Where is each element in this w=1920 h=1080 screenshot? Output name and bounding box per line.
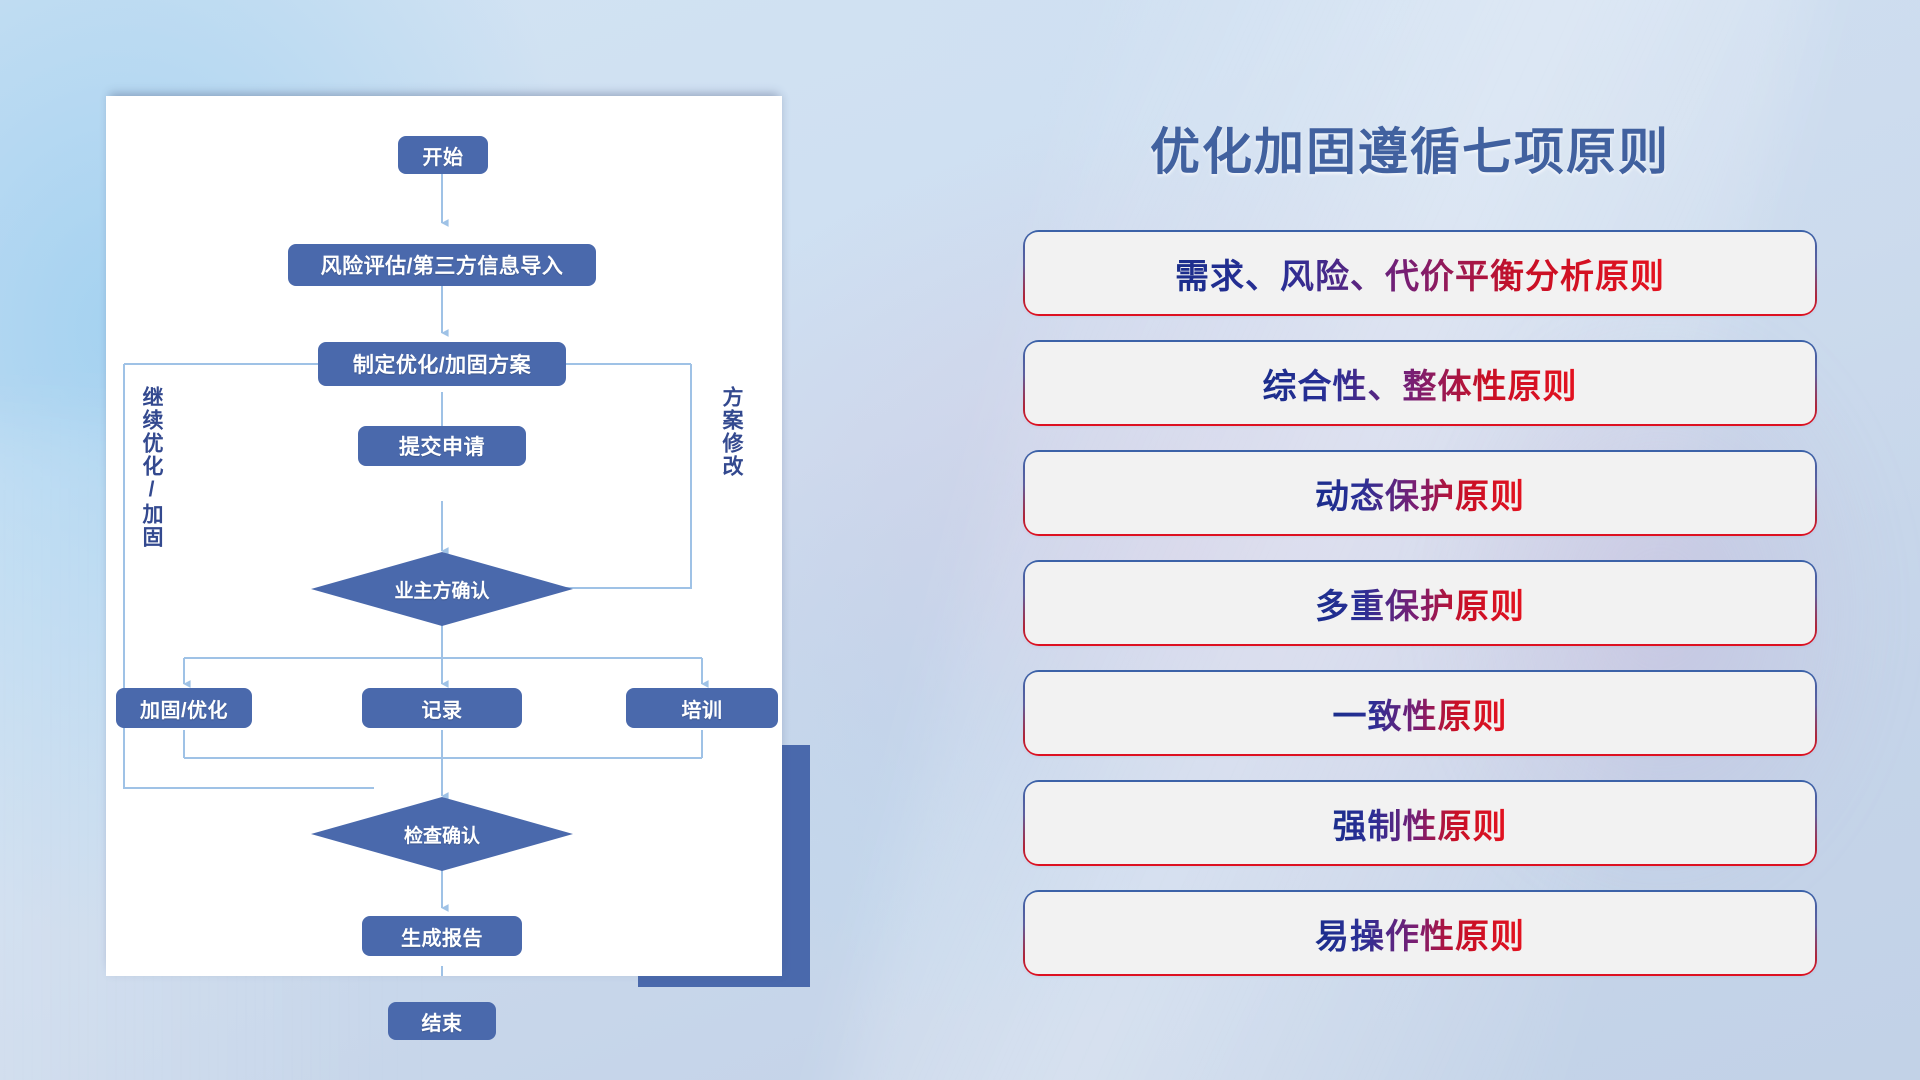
flowchart-panel: 开始 风险评估/第三方信息导入 制定优化/加固方案 提交申请 业主方确认 加固/… (106, 96, 782, 976)
principle-card-inner: 一致性原则 (1025, 672, 1815, 754)
flow-node-submit[interactable]: 提交申请 (358, 426, 526, 466)
principle-card[interactable]: 多重保护原则 (1025, 562, 1815, 644)
flow-node-check-confirm[interactable]: 检查确认 (310, 796, 574, 872)
principle-card-label: 多重保护原则 (1315, 579, 1525, 628)
flow-node-risk-assessment[interactable]: 风险评估/第三方信息导入 (288, 244, 596, 286)
principle-card[interactable]: 动态保护原则 (1025, 452, 1815, 534)
flow-node-start-label: 开始 (423, 141, 464, 170)
principle-card-label: 动态保护原则 (1315, 469, 1525, 518)
flow-edge-label-left-loop: 继续优化/加固 (140, 386, 162, 576)
diamond-shape-owner-confirm (310, 551, 574, 627)
principle-card[interactable]: 综合性、整体性原则 (1025, 342, 1815, 424)
principle-card-inner: 需求、风险、代价平衡分析原则 (1025, 232, 1815, 314)
flow-node-record-label: 记录 (422, 694, 463, 723)
principle-card-label: 需求、风险、代价平衡分析原则 (1175, 249, 1665, 298)
flow-node-owner-confirm[interactable]: 业主方确认 (310, 551, 574, 627)
principle-card-label: 强制性原则 (1333, 799, 1508, 848)
flow-node-end-label: 结束 (422, 1007, 463, 1036)
flow-node-end[interactable]: 结束 (388, 1002, 496, 1040)
flow-node-reinforce[interactable]: 加固/优化 (116, 688, 252, 728)
flow-node-reinforce-label: 加固/优化 (140, 694, 228, 723)
flow-node-record[interactable]: 记录 (362, 688, 522, 728)
principle-card[interactable]: 一致性原则 (1025, 672, 1815, 754)
principle-card-label: 一致性原则 (1333, 689, 1508, 738)
principle-card[interactable]: 强制性原则 (1025, 782, 1815, 864)
principle-card-inner: 易操作性原则 (1025, 892, 1815, 974)
flow-node-training-label: 培训 (682, 694, 723, 723)
principle-card-inner: 动态保护原则 (1025, 452, 1815, 534)
principle-card[interactable]: 易操作性原则 (1025, 892, 1815, 974)
flow-node-submit-label: 提交申请 (399, 431, 485, 461)
principles-list: 需求、风险、代价平衡分析原则 综合性、整体性原则 动态保护原则 多重保护原则 一… (1025, 232, 1815, 1002)
slide-root: 开始 风险评估/第三方信息导入 制定优化/加固方案 提交申请 业主方确认 加固/… (0, 0, 1920, 1080)
flow-node-plan-label: 制定优化/加固方案 (353, 349, 531, 379)
principle-card[interactable]: 需求、风险、代价平衡分析原则 (1025, 232, 1815, 314)
flow-node-training[interactable]: 培训 (626, 688, 778, 728)
principle-card-inner: 强制性原则 (1025, 782, 1815, 864)
principle-card-inner: 多重保护原则 (1025, 562, 1815, 644)
flow-node-plan[interactable]: 制定优化/加固方案 (318, 342, 566, 386)
principles-title: 优化加固遵循七项原则 (1150, 112, 1670, 184)
principle-card-inner: 综合性、整体性原则 (1025, 342, 1815, 424)
principle-card-label: 易操作性原则 (1315, 909, 1525, 958)
flow-node-risk-assessment-label: 风险评估/第三方信息导入 (321, 250, 564, 280)
principle-card-label: 综合性、整体性原则 (1263, 359, 1578, 408)
flow-node-report-label: 生成报告 (401, 922, 483, 951)
flow-edge-label-right-loop: 方案修改 (720, 386, 742, 526)
flow-node-report[interactable]: 生成报告 (362, 916, 522, 956)
diamond-shape-check-confirm (310, 796, 574, 872)
flowchart: 开始 风险评估/第三方信息导入 制定优化/加固方案 提交申请 业主方确认 加固/… (106, 96, 782, 976)
flow-node-start[interactable]: 开始 (398, 136, 488, 174)
